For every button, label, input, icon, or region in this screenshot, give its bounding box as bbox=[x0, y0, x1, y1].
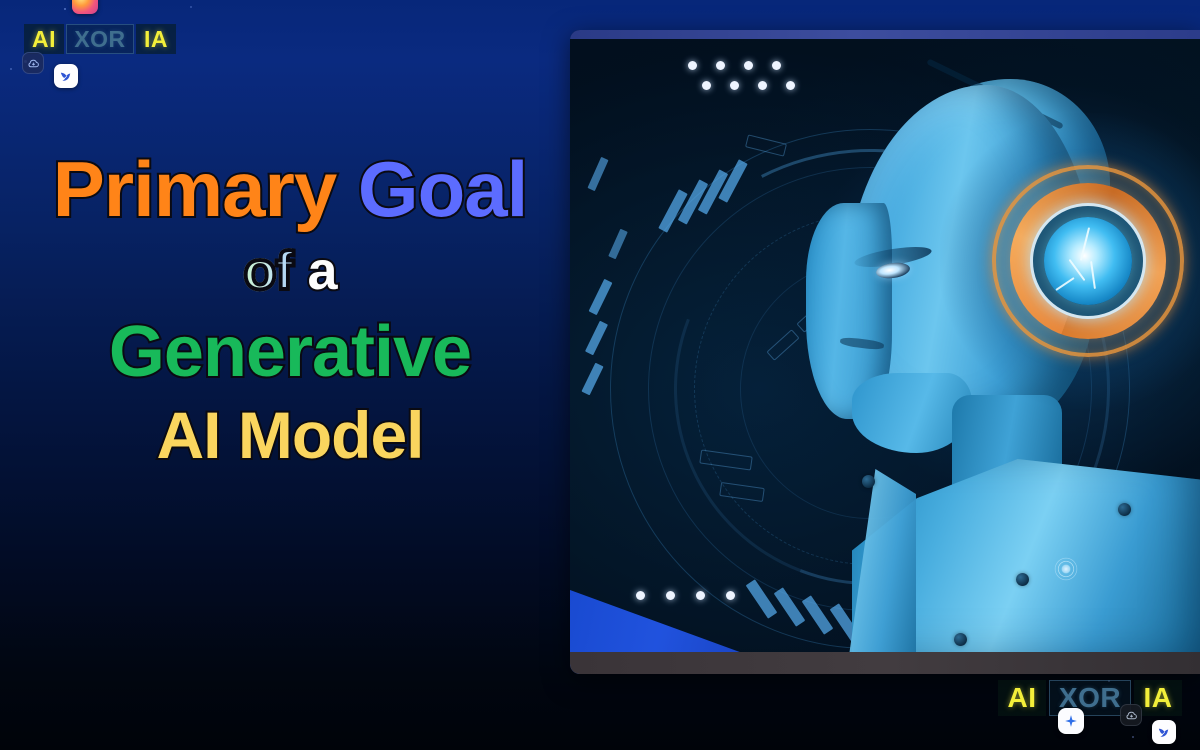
bird-icon-bottom[interactable] bbox=[1152, 720, 1176, 744]
hud-dot bbox=[696, 591, 705, 600]
ambient-speck bbox=[1132, 736, 1134, 738]
app-icon-clipped[interactable] bbox=[72, 0, 98, 14]
hud-dot bbox=[744, 61, 753, 70]
headline-word-generative: Generative bbox=[109, 312, 471, 392]
headline-word-ai-model: AI Model bbox=[157, 398, 424, 472]
headline-line-4: AI Model bbox=[0, 402, 580, 468]
hud-dot bbox=[758, 81, 767, 90]
cloud-glyph bbox=[27, 57, 40, 70]
headline-line-3: Generative bbox=[0, 316, 580, 388]
cloud-icon-left[interactable] bbox=[22, 52, 44, 74]
robot-stud bbox=[954, 633, 967, 646]
bird-glyph bbox=[59, 69, 74, 84]
hud-dot bbox=[716, 61, 725, 70]
panel-footer-strip bbox=[570, 652, 1200, 674]
sparkle-glyph bbox=[1064, 714, 1078, 728]
ambient-speck bbox=[10, 68, 12, 70]
hud-dot bbox=[730, 81, 739, 90]
headline-word-of: of bbox=[243, 241, 292, 301]
headline-block: Primary Goal of a Generative AI Model bbox=[0, 150, 580, 468]
watermark-ai-text: AI bbox=[998, 680, 1046, 716]
headline-word-primary: Primary bbox=[53, 145, 337, 233]
robot-stud bbox=[862, 475, 875, 488]
panel-top-bar bbox=[570, 30, 1200, 39]
hud-dot bbox=[688, 61, 697, 70]
aixoria-watermark-top: AI XOR IA bbox=[24, 24, 176, 54]
bird-icon-left[interactable] bbox=[54, 64, 78, 88]
robot-stud bbox=[1118, 503, 1131, 516]
hud-dot bbox=[702, 81, 711, 90]
headline-word-goal: Goal bbox=[358, 145, 527, 233]
panel-inner bbox=[570, 39, 1200, 674]
energy-core-orb bbox=[988, 161, 1188, 361]
watermark-ai-text: AI bbox=[24, 24, 64, 54]
aixoria-watermark-bottom: AI XOR IA bbox=[998, 680, 1182, 716]
bird-glyph bbox=[1157, 725, 1172, 740]
robot-stud bbox=[1016, 573, 1029, 586]
hud-dot bbox=[726, 591, 735, 600]
robot-chest-emblem bbox=[1052, 555, 1080, 583]
headline-line-1: Primary Goal bbox=[0, 150, 580, 228]
hud-dot bbox=[772, 61, 781, 70]
cloud-glyph bbox=[1125, 709, 1138, 722]
sparkle-icon-bottom[interactable] bbox=[1058, 708, 1084, 734]
robot-hero-image bbox=[570, 30, 1200, 674]
watermark-ia-text: IA bbox=[136, 24, 176, 54]
watermark-xor-text: XOR bbox=[66, 24, 134, 54]
headline-line-2: of a bbox=[0, 244, 580, 298]
hud-dot bbox=[786, 81, 795, 90]
cloud-icon-bottom[interactable] bbox=[1120, 704, 1142, 726]
headline-word-a: a bbox=[307, 241, 336, 301]
hud-dot bbox=[666, 591, 675, 600]
ambient-speck bbox=[64, 8, 66, 10]
ambient-speck bbox=[190, 6, 192, 8]
hud-dot bbox=[636, 591, 645, 600]
